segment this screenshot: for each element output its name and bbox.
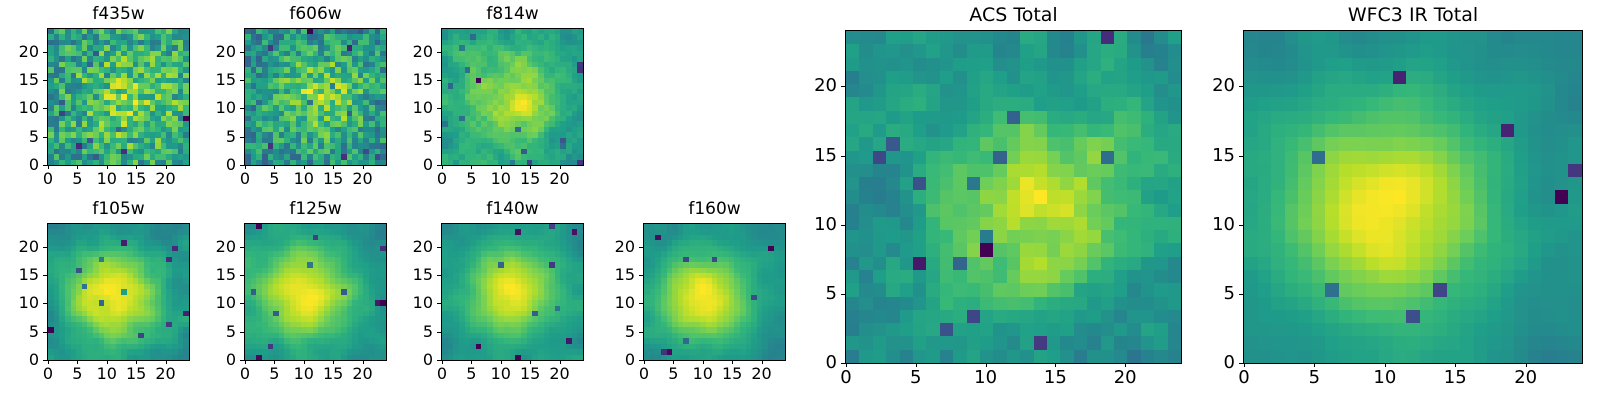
y-tick bbox=[639, 332, 643, 333]
panel-title: f160w bbox=[643, 201, 786, 218]
x-tick-label: 15 bbox=[317, 171, 349, 187]
y-tick bbox=[240, 80, 244, 81]
x-tick-label: 15 bbox=[716, 366, 748, 382]
y-tick-label: 15 bbox=[0, 72, 39, 88]
x-tick-label: 10 bbox=[1369, 369, 1401, 387]
y-tick-label: 10 bbox=[381, 295, 433, 311]
y-tick-label: 20 bbox=[1183, 77, 1235, 95]
y-tick-label: 0 bbox=[1183, 354, 1235, 372]
y-tick bbox=[43, 332, 47, 333]
x-tick-label: 5 bbox=[61, 366, 93, 382]
y-tick bbox=[841, 225, 845, 226]
x-tick-label: 10 bbox=[288, 366, 320, 382]
panel-title: f140w bbox=[441, 201, 584, 218]
image-axes bbox=[643, 223, 786, 361]
y-tick-label: 5 bbox=[583, 324, 635, 340]
image-axes bbox=[47, 28, 190, 166]
panel-f105w: f105w0510152005101520 bbox=[0, 197, 190, 395]
heatmap-pixels bbox=[48, 224, 189, 360]
y-tick-label: 20 bbox=[184, 44, 236, 60]
panel-f435w: f435w0510152005101520 bbox=[0, 2, 190, 200]
y-tick-label: 5 bbox=[381, 129, 433, 145]
y-tick-label: 5 bbox=[381, 324, 433, 340]
panel-acs-total: ACS Total0510152005101520 bbox=[785, 4, 1182, 398]
y-tick-label: 10 bbox=[0, 100, 39, 116]
y-tick-label: 10 bbox=[785, 216, 837, 234]
x-tick-label: 15 bbox=[1439, 369, 1471, 387]
panel-title: f125w bbox=[244, 201, 387, 218]
y-tick bbox=[639, 275, 643, 276]
y-tick-label: 15 bbox=[583, 267, 635, 283]
y-tick-label: 15 bbox=[1183, 147, 1235, 165]
y-tick-label: 20 bbox=[583, 239, 635, 255]
x-tick-label: 10 bbox=[91, 366, 123, 382]
y-tick-label: 0 bbox=[0, 352, 39, 368]
y-tick bbox=[240, 360, 244, 361]
image-axes bbox=[845, 30, 1182, 364]
panel-title: f105w bbox=[47, 201, 190, 218]
y-tick-label: 15 bbox=[0, 267, 39, 283]
y-tick bbox=[240, 52, 244, 53]
y-tick-label: 5 bbox=[184, 129, 236, 145]
panel-f140w: f140w0510152005101520 bbox=[381, 197, 584, 395]
y-tick bbox=[437, 80, 441, 81]
y-tick-label: 10 bbox=[1183, 216, 1235, 234]
y-tick-label: 15 bbox=[381, 72, 433, 88]
x-tick-label: 20 bbox=[347, 366, 379, 382]
x-tick-label: 15 bbox=[1039, 369, 1071, 387]
y-tick-label: 15 bbox=[381, 267, 433, 283]
y-tick bbox=[240, 275, 244, 276]
panel-title: f606w bbox=[244, 6, 387, 23]
y-tick-label: 10 bbox=[583, 295, 635, 311]
y-tick bbox=[43, 360, 47, 361]
x-tick-label: 20 bbox=[544, 366, 576, 382]
x-tick-label: 5 bbox=[258, 171, 290, 187]
x-tick-label: 15 bbox=[120, 171, 152, 187]
x-tick-label: 20 bbox=[150, 366, 182, 382]
y-tick bbox=[437, 360, 441, 361]
y-tick bbox=[437, 137, 441, 138]
x-tick-label: 10 bbox=[485, 171, 517, 187]
x-tick-label: 10 bbox=[91, 171, 123, 187]
panel-title: f435w bbox=[47, 6, 190, 23]
y-tick bbox=[841, 294, 845, 295]
y-tick-label: 10 bbox=[184, 100, 236, 116]
x-tick-label: 5 bbox=[657, 366, 689, 382]
y-tick bbox=[43, 165, 47, 166]
x-tick-label: 20 bbox=[544, 171, 576, 187]
x-tick-label: 20 bbox=[1510, 369, 1542, 387]
image-axes bbox=[441, 223, 584, 361]
y-tick bbox=[240, 303, 244, 304]
y-tick bbox=[437, 275, 441, 276]
y-tick bbox=[1239, 363, 1243, 364]
y-tick-label: 5 bbox=[0, 324, 39, 340]
x-tick-label: 10 bbox=[288, 171, 320, 187]
y-tick bbox=[43, 247, 47, 248]
y-tick-label: 10 bbox=[381, 100, 433, 116]
y-tick bbox=[1239, 86, 1243, 87]
x-tick-label: 5 bbox=[61, 171, 93, 187]
y-tick bbox=[437, 108, 441, 109]
y-tick bbox=[1239, 294, 1243, 295]
x-tick-label: 20 bbox=[746, 366, 778, 382]
y-tick-label: 15 bbox=[184, 72, 236, 88]
y-tick-label: 15 bbox=[184, 267, 236, 283]
heatmap-pixels bbox=[846, 31, 1181, 363]
heatmap-pixels bbox=[1244, 31, 1582, 363]
y-tick bbox=[240, 247, 244, 248]
y-tick bbox=[43, 52, 47, 53]
x-tick-label: 10 bbox=[687, 366, 719, 382]
y-tick-label: 20 bbox=[0, 239, 39, 255]
figure-canvas: f435w0510152005101520f606w05101520051015… bbox=[0, 0, 1600, 400]
y-tick-label: 20 bbox=[184, 239, 236, 255]
y-tick bbox=[43, 108, 47, 109]
y-tick bbox=[1239, 156, 1243, 157]
x-tick-label: 20 bbox=[150, 171, 182, 187]
y-tick bbox=[639, 360, 643, 361]
y-tick bbox=[43, 275, 47, 276]
y-tick bbox=[240, 332, 244, 333]
panel-f814w: f814w0510152005101520 bbox=[381, 2, 584, 200]
y-tick-label: 20 bbox=[0, 44, 39, 60]
heatmap-pixels bbox=[442, 224, 583, 360]
y-tick bbox=[437, 332, 441, 333]
y-tick bbox=[43, 137, 47, 138]
y-tick-label: 20 bbox=[381, 239, 433, 255]
y-tick-label: 0 bbox=[583, 352, 635, 368]
y-tick bbox=[1239, 225, 1243, 226]
y-tick bbox=[841, 363, 845, 364]
heatmap-pixels bbox=[644, 224, 785, 360]
heatmap-pixels bbox=[442, 29, 583, 165]
heatmap-pixels bbox=[245, 224, 386, 360]
panel-wfc3-ir-total: WFC3 IR Total0510152005101520 bbox=[1183, 4, 1583, 398]
x-tick-label: 5 bbox=[455, 366, 487, 382]
y-tick-label: 20 bbox=[785, 77, 837, 95]
x-tick-label: 10 bbox=[485, 366, 517, 382]
image-axes bbox=[1243, 30, 1583, 364]
image-axes bbox=[244, 223, 387, 361]
x-tick-label: 15 bbox=[514, 171, 546, 187]
x-tick-label: 5 bbox=[900, 369, 932, 387]
x-tick-label: 10 bbox=[970, 369, 1002, 387]
y-tick-label: 5 bbox=[184, 324, 236, 340]
x-tick-label: 15 bbox=[317, 366, 349, 382]
panel-f160w: f160w0510152005101520 bbox=[583, 197, 786, 395]
panel-f606w: f606w0510152005101520 bbox=[184, 2, 387, 200]
x-tick-label: 5 bbox=[455, 171, 487, 187]
y-tick-label: 0 bbox=[0, 157, 39, 173]
y-tick bbox=[43, 303, 47, 304]
y-tick-label: 0 bbox=[184, 352, 236, 368]
panel-f125w: f125w0510152005101520 bbox=[184, 197, 387, 395]
y-tick-label: 0 bbox=[381, 352, 433, 368]
y-tick-label: 0 bbox=[184, 157, 236, 173]
x-tick-label: 20 bbox=[1109, 369, 1141, 387]
y-tick bbox=[240, 165, 244, 166]
y-tick-label: 5 bbox=[1183, 285, 1235, 303]
y-tick bbox=[240, 137, 244, 138]
y-tick-label: 0 bbox=[381, 157, 433, 173]
panel-title: f814w bbox=[441, 6, 584, 23]
y-tick bbox=[841, 156, 845, 157]
x-tick-label: 5 bbox=[258, 366, 290, 382]
x-tick-label: 15 bbox=[120, 366, 152, 382]
y-tick bbox=[841, 86, 845, 87]
y-tick bbox=[437, 303, 441, 304]
y-tick-label: 10 bbox=[184, 295, 236, 311]
y-tick bbox=[639, 247, 643, 248]
panel-title: ACS Total bbox=[845, 6, 1182, 25]
y-tick-label: 5 bbox=[0, 129, 39, 145]
heatmap-pixels bbox=[48, 29, 189, 165]
y-tick bbox=[437, 52, 441, 53]
image-axes bbox=[47, 223, 190, 361]
image-axes bbox=[441, 28, 584, 166]
y-tick bbox=[639, 303, 643, 304]
x-tick-label: 20 bbox=[347, 171, 379, 187]
y-tick bbox=[43, 80, 47, 81]
y-tick bbox=[240, 108, 244, 109]
y-tick bbox=[437, 165, 441, 166]
image-axes bbox=[244, 28, 387, 166]
y-tick-label: 20 bbox=[381, 44, 433, 60]
x-tick-label: 15 bbox=[514, 366, 546, 382]
y-tick-label: 5 bbox=[785, 285, 837, 303]
heatmap-pixels bbox=[245, 29, 386, 165]
y-tick bbox=[437, 247, 441, 248]
y-tick-label: 15 bbox=[785, 147, 837, 165]
panel-title: WFC3 IR Total bbox=[1243, 6, 1583, 25]
y-tick-label: 0 bbox=[785, 354, 837, 372]
y-tick-label: 10 bbox=[0, 295, 39, 311]
x-tick-label: 5 bbox=[1298, 369, 1330, 387]
